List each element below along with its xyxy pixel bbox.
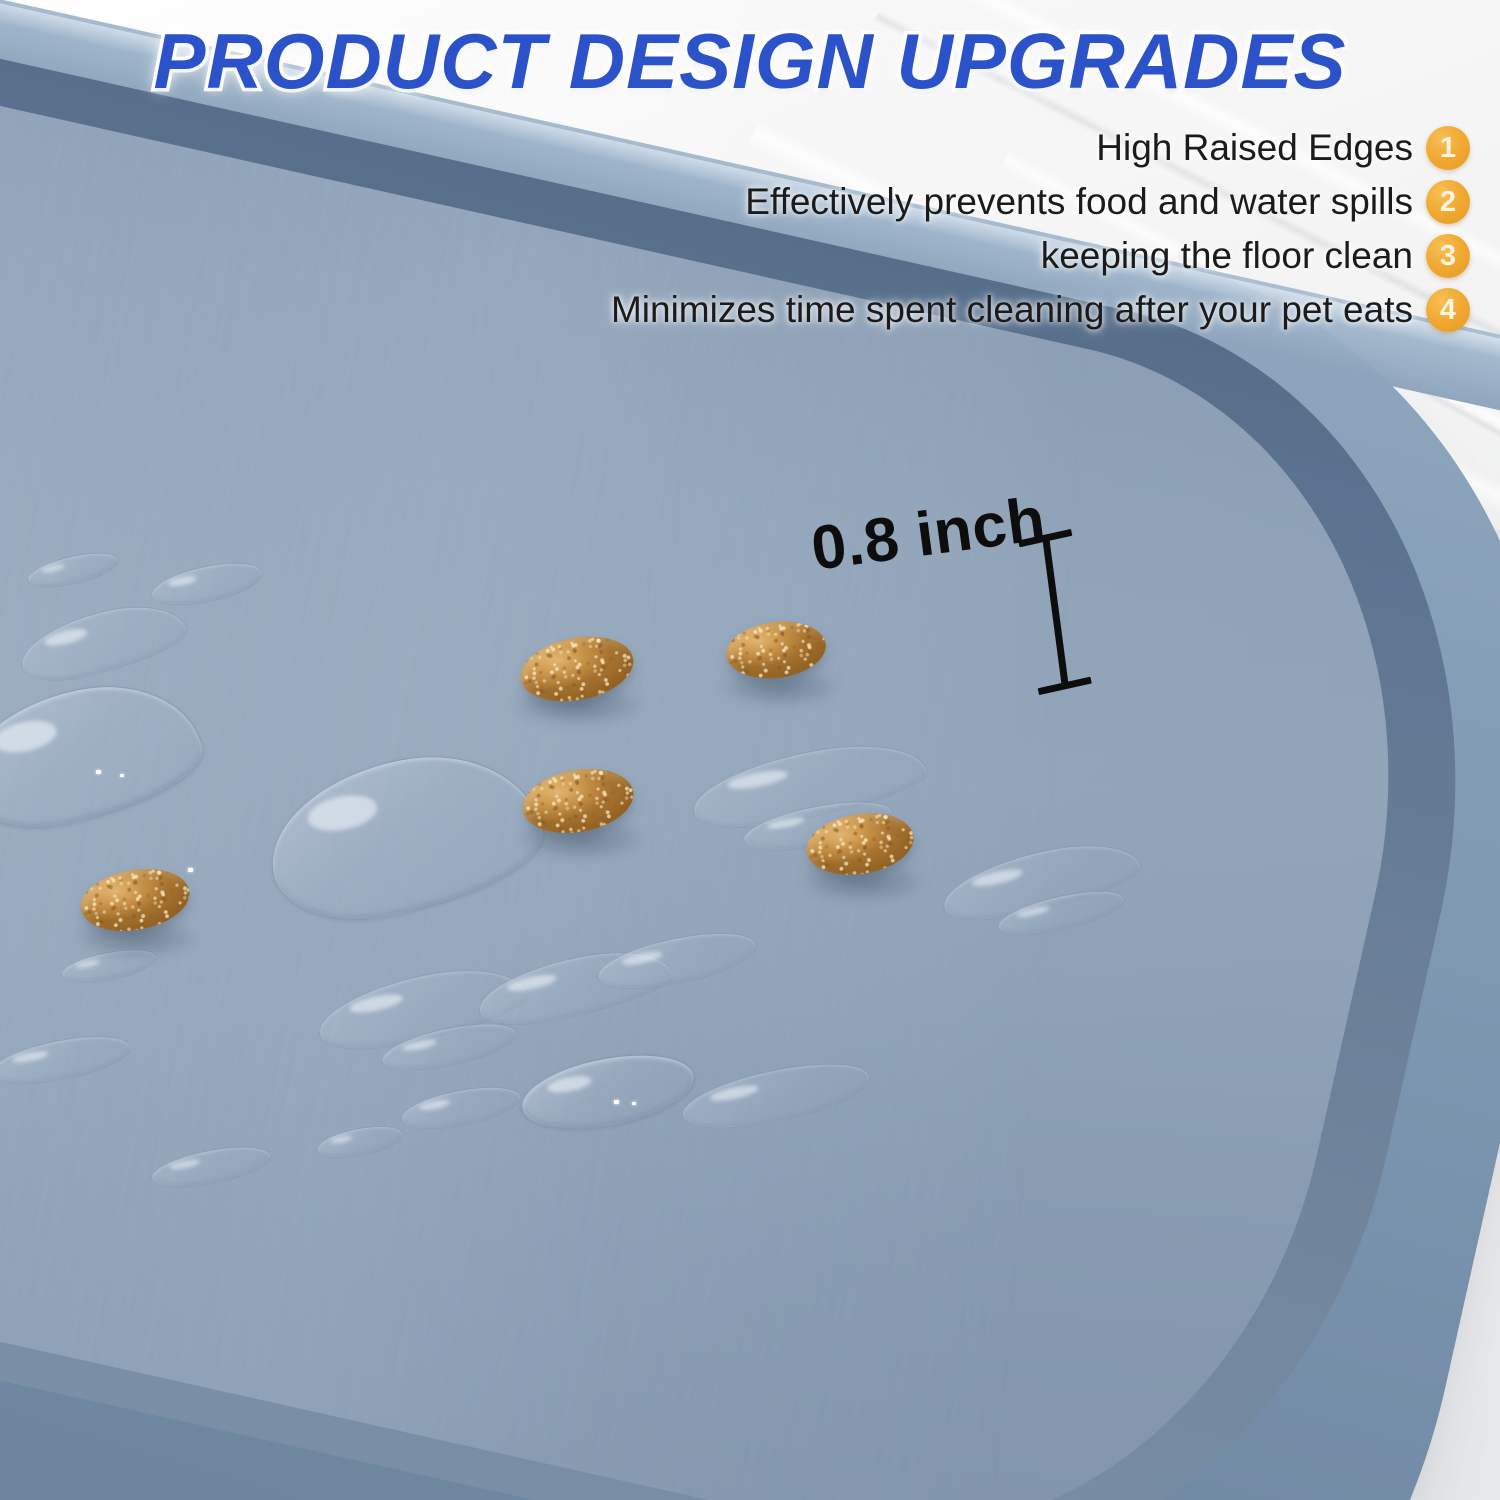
- droplet-specular-highlight: [188, 868, 193, 872]
- feature-label: High Raised Edges: [1096, 127, 1413, 169]
- droplet-specular-highlight: [96, 770, 101, 774]
- list-item: Effectively prevents food and water spil…: [745, 180, 1470, 224]
- feature-list: High Raised Edges 1 Effectively prevents…: [611, 126, 1470, 332]
- droplet-specular-highlight: [120, 774, 124, 777]
- number-badge-2-icon: 2: [1426, 180, 1470, 224]
- page-title: PRODUCT DESIGN UPGRADES: [0, 16, 1500, 107]
- number-badge-3-icon: 3: [1426, 234, 1470, 278]
- droplet-specular-highlight: [614, 1100, 619, 1104]
- number-badge-1-icon: 1: [1426, 126, 1470, 170]
- dimension-stem: [1042, 538, 1068, 686]
- list-item: Minimizes time spent cleaning after your…: [611, 288, 1470, 332]
- droplet-specular-highlight: [632, 1102, 636, 1105]
- feature-label: Effectively prevents food and water spil…: [745, 181, 1413, 223]
- feature-label: Minimizes time spent cleaning after your…: [611, 289, 1413, 331]
- product-marketing-image: PRODUCT DESIGN UPGRADES High Raised Edge…: [0, 0, 1500, 1500]
- list-item: keeping the floor clean 3: [1041, 234, 1470, 278]
- list-item: High Raised Edges 1: [1096, 126, 1470, 170]
- number-badge-4-icon: 4: [1426, 288, 1470, 332]
- feature-label: keeping the floor clean: [1041, 235, 1413, 277]
